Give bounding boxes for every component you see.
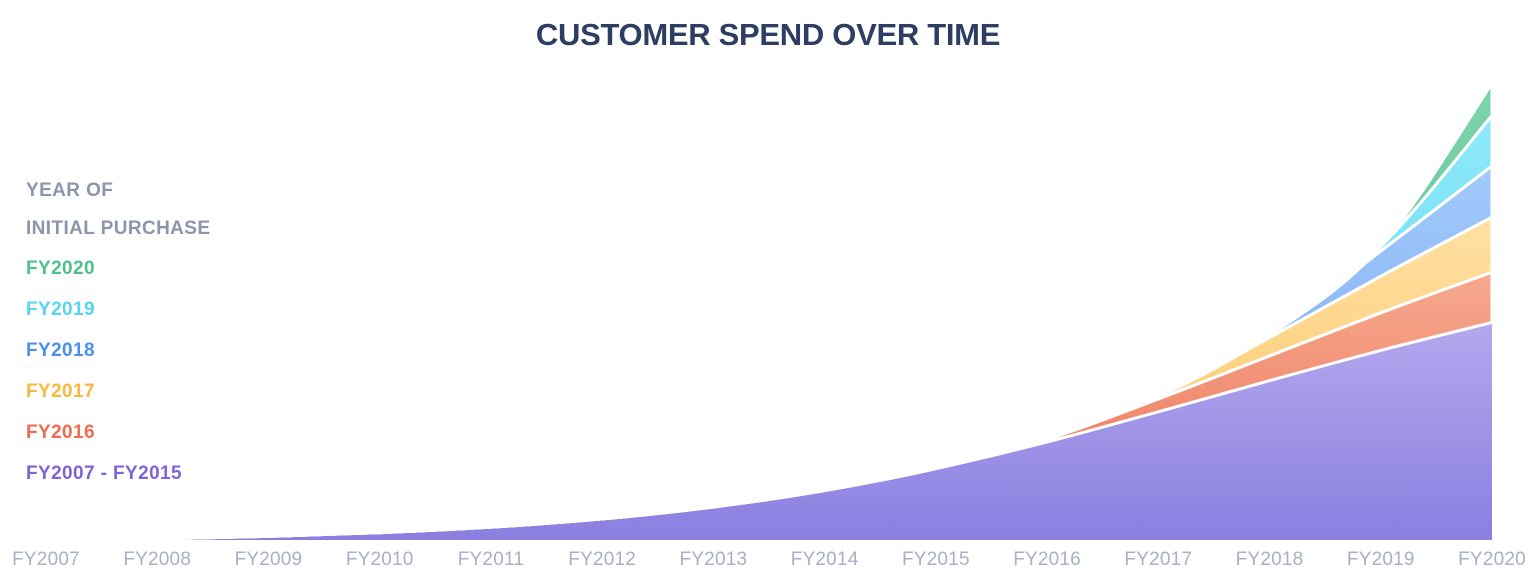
x-tick-label-fy2016: FY2016 bbox=[1013, 549, 1081, 571]
plot-area bbox=[0, 0, 1536, 545]
x-tick-label-fy2015: FY2015 bbox=[902, 549, 970, 571]
x-tick-label-fy2019: FY2019 bbox=[1347, 549, 1415, 571]
x-axis: FY2007FY2008FY2009FY2010FY2011FY2012FY20… bbox=[0, 549, 1536, 579]
x-tick-label-fy2010: FY2010 bbox=[346, 549, 414, 571]
x-tick-label-fy2014: FY2014 bbox=[791, 549, 859, 571]
x-tick-label-fy2017: FY2017 bbox=[1124, 549, 1192, 571]
x-tick-label-fy2020: FY2020 bbox=[1458, 549, 1526, 571]
x-tick-label-fy2018: FY2018 bbox=[1236, 549, 1304, 571]
chart-container: CUSTOMER SPEND OVER TIME YEAR OF INITIAL… bbox=[0, 0, 1536, 579]
x-tick-label-fy2013: FY2013 bbox=[680, 549, 748, 571]
area-band-group bbox=[46, 83, 1492, 540]
x-tick-label-fy2007: FY2007 bbox=[12, 549, 80, 571]
x-tick-label-fy2012: FY2012 bbox=[568, 549, 636, 571]
x-tick-label-fy2009: FY2009 bbox=[235, 549, 303, 571]
x-tick-label-fy2011: FY2011 bbox=[458, 549, 524, 571]
stacked-area-plot bbox=[0, 0, 1536, 545]
x-tick-label-fy2008: FY2008 bbox=[123, 549, 191, 571]
